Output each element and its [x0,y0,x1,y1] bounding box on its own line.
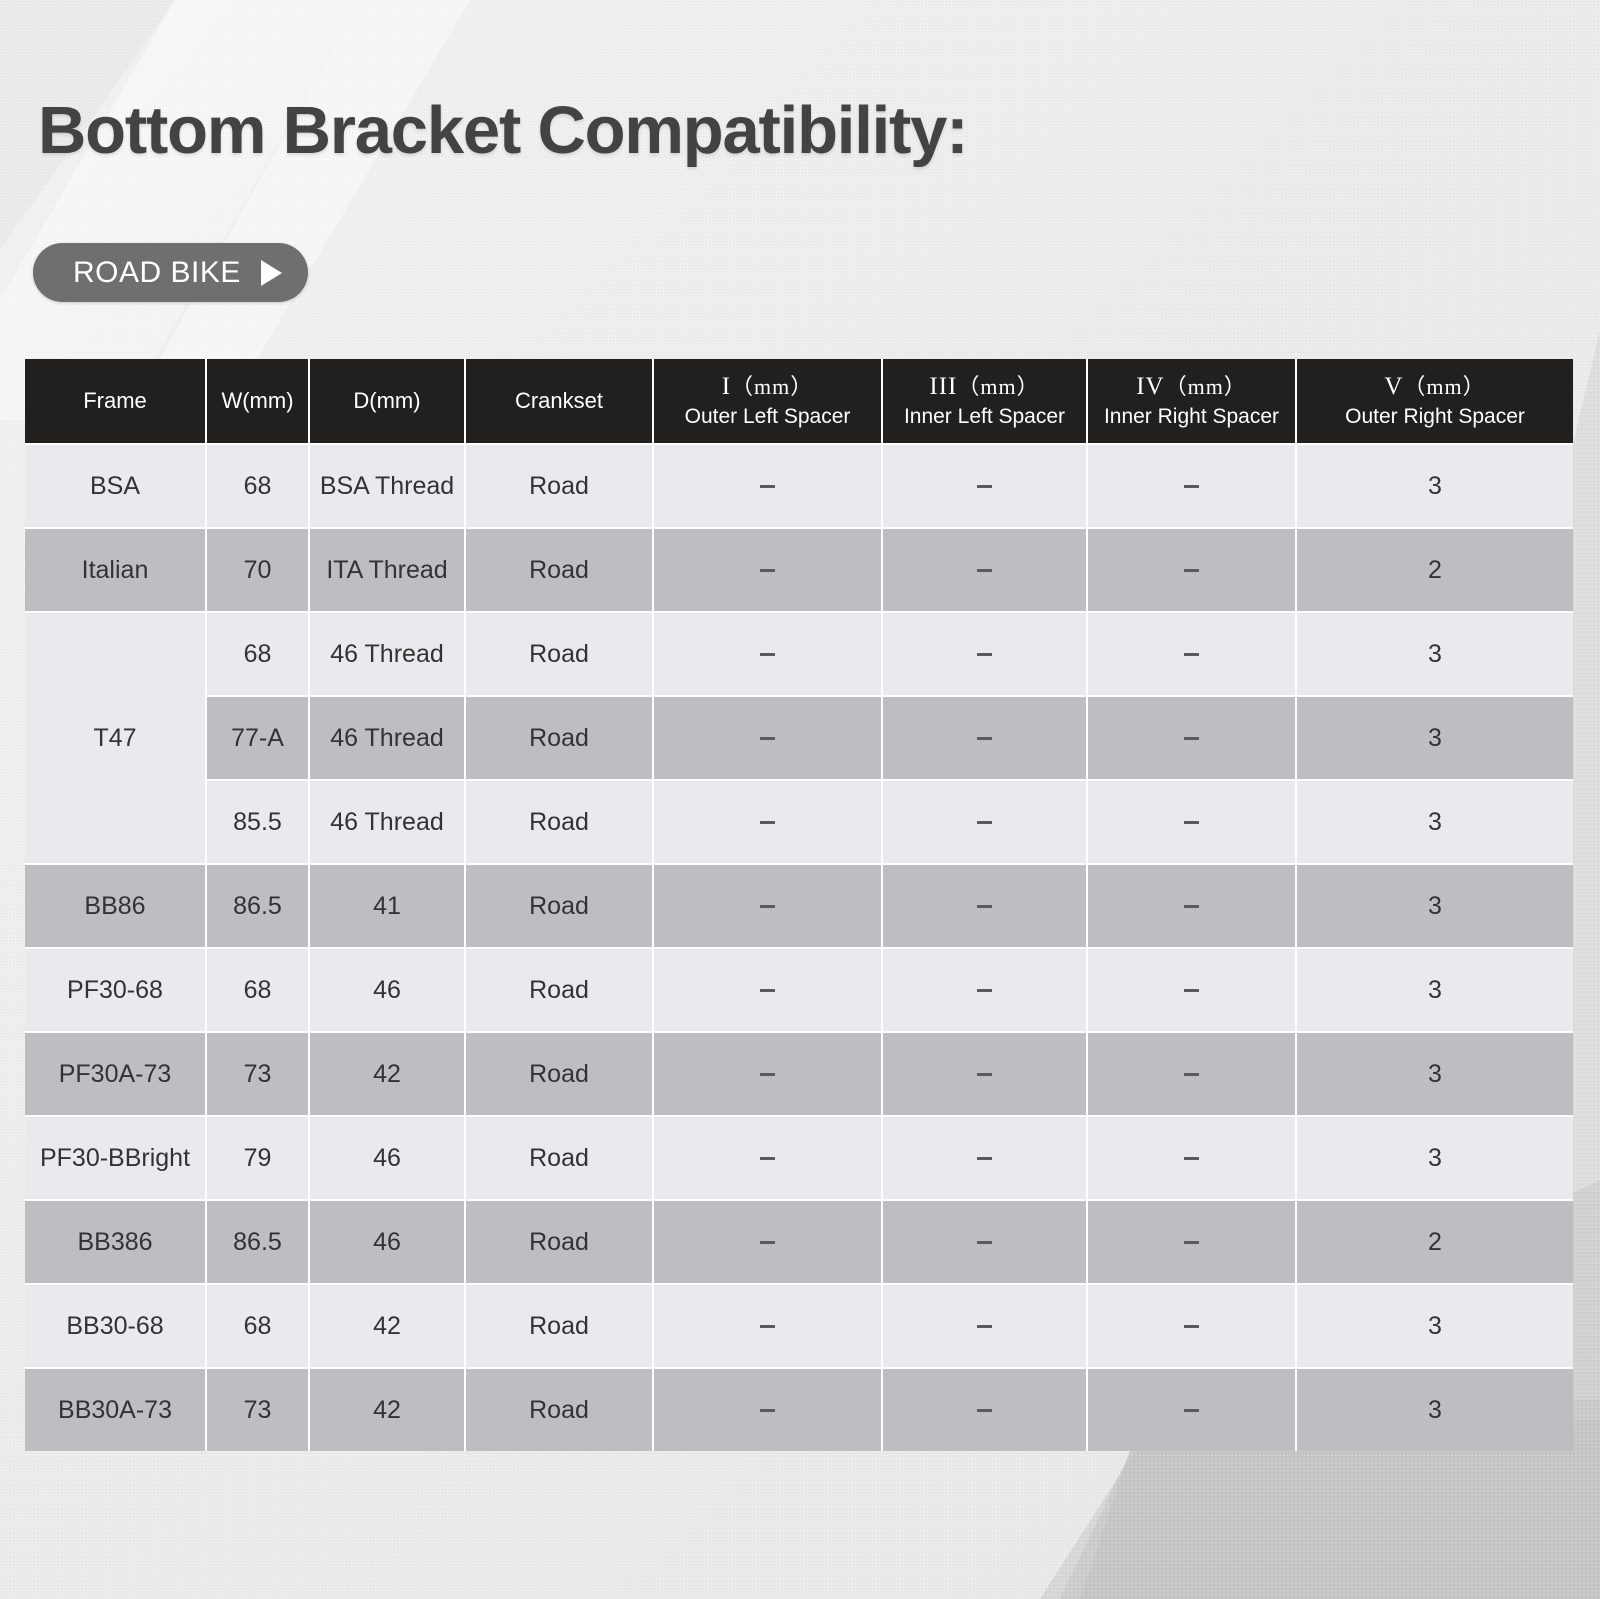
table-row: 77-A46 ThreadRoad3 [25,697,1573,781]
cell-spacer1 [654,445,883,529]
empty-value-dash-icon [1184,1325,1199,1328]
column-header-subtitle: Inner Left Spacer [883,404,1086,431]
compatibility-table: FrameW(mm)D(mm)CranksetI（mm）Outer Left S… [25,359,1573,1451]
empty-value-dash-icon [1184,1073,1199,1076]
cell-d: 46 [310,949,466,1033]
cell-w: 86.5 [207,1201,310,1285]
cell-spacer4 [1088,697,1297,781]
cell-frame: PF30-BBright [25,1117,207,1201]
cell-spacer3 [883,1117,1088,1201]
cell-spacer1 [654,1117,883,1201]
cell-frame: Italian [25,529,207,613]
cell-spacer5: 3 [1297,949,1573,1033]
cell-w: 70 [207,529,310,613]
table-row: T476846 ThreadRoad3 [25,613,1573,697]
cell-spacer1 [654,1033,883,1117]
cell-spacer3 [883,781,1088,865]
cell-spacer3 [883,445,1088,529]
cell-w: 86.5 [207,865,310,949]
cell-d: 42 [310,1369,466,1451]
cell-d: 42 [310,1285,466,1369]
column-header-label: W(mm) [221,388,293,413]
cell-d: 46 [310,1117,466,1201]
table-row: BSA68BSA ThreadRoad3 [25,445,1573,529]
empty-value-dash-icon [1184,737,1199,740]
column-header-unit: （mm） [1165,374,1247,399]
cell-crank: Road [466,1033,654,1117]
column-header-unit: （mm） [1403,374,1485,399]
empty-value-dash-icon [977,1409,992,1412]
cell-spacer3 [883,529,1088,613]
empty-value-dash-icon [760,989,775,992]
cell-d: 46 Thread [310,697,466,781]
empty-value-dash-icon [977,485,992,488]
cell-spacer5: 3 [1297,865,1573,949]
table-row: BB8686.541Road3 [25,865,1573,949]
table-row: BB30-686842Road3 [25,1285,1573,1369]
column-header-label: Frame [83,388,147,413]
cell-spacer3 [883,697,1088,781]
cell-spacer5: 3 [1297,613,1573,697]
cell-w: 68 [207,1285,310,1369]
empty-value-dash-icon [977,905,992,908]
cell-w: 68 [207,445,310,529]
cell-spacer4 [1088,1285,1297,1369]
empty-value-dash-icon [1184,485,1199,488]
empty-value-dash-icon [977,569,992,572]
table-row: BB38686.546Road2 [25,1201,1573,1285]
cell-frame: BB386 [25,1201,207,1285]
cell-spacer3 [883,1201,1088,1285]
column-header-spacer4: IV（mm）Inner Right Spacer [1088,359,1297,445]
cell-spacer3 [883,865,1088,949]
empty-value-dash-icon [977,653,992,656]
cell-spacer3 [883,1285,1088,1369]
cell-spacer5: 3 [1297,697,1573,781]
empty-value-dash-icon [977,1325,992,1328]
cell-w: 73 [207,1033,310,1117]
cell-frame: BB86 [25,865,207,949]
cell-spacer3 [883,1033,1088,1117]
cell-spacer3 [883,949,1088,1033]
cell-spacer1 [654,697,883,781]
cell-d: 46 [310,1201,466,1285]
play-triangle-right-icon [261,260,282,286]
cell-spacer4 [1088,1201,1297,1285]
cell-spacer4 [1088,445,1297,529]
table-header: FrameW(mm)D(mm)CranksetI（mm）Outer Left S… [25,359,1573,445]
cell-d: 46 Thread [310,613,466,697]
cell-spacer5: 3 [1297,1369,1573,1451]
empty-value-dash-icon [760,569,775,572]
cell-crank: Road [466,1369,654,1451]
cell-spacer5: 3 [1297,1285,1573,1369]
cell-spacer1 [654,865,883,949]
cell-spacer4 [1088,949,1297,1033]
column-header-numeral: I（mm） [654,371,881,403]
cell-d: 42 [310,1033,466,1117]
column-header-crank: Crankset [466,359,654,445]
category-badge-road-bike[interactable]: ROAD BIKE [33,243,308,302]
cell-spacer4 [1088,1369,1297,1451]
cell-spacer5: 2 [1297,1201,1573,1285]
empty-value-dash-icon [760,1157,775,1160]
column-header-frame: Frame [25,359,207,445]
cell-spacer3 [883,613,1088,697]
column-header-unit: （mm） [731,374,813,399]
cell-frame: T47 [25,613,207,865]
cell-frame: BSA [25,445,207,529]
empty-value-dash-icon [1184,989,1199,992]
cell-spacer5: 2 [1297,529,1573,613]
empty-value-dash-icon [1184,1241,1199,1244]
column-header-spacer3: III（mm）Inner Left Spacer [883,359,1088,445]
cell-crank: Road [466,697,654,781]
cell-spacer1 [654,1369,883,1451]
table-row: BB30A-737342Road3 [25,1369,1573,1451]
empty-value-dash-icon [760,485,775,488]
empty-value-dash-icon [977,1157,992,1160]
cell-crank: Road [466,1117,654,1201]
column-header-numeral: V（mm） [1297,371,1573,403]
cell-crank: Road [466,1285,654,1369]
cell-spacer4 [1088,781,1297,865]
cell-spacer4 [1088,613,1297,697]
cell-d: ITA Thread [310,529,466,613]
cell-spacer1 [654,949,883,1033]
column-header-label: Crankset [515,388,603,413]
cell-crank: Road [466,1201,654,1285]
cell-spacer1 [654,1285,883,1369]
empty-value-dash-icon [1184,905,1199,908]
cell-w: 68 [207,613,310,697]
compatibility-table-container: FrameW(mm)D(mm)CranksetI（mm）Outer Left S… [25,359,1573,1451]
empty-value-dash-icon [1184,1157,1199,1160]
cell-frame: BB30-68 [25,1285,207,1369]
cell-frame: PF30A-73 [25,1033,207,1117]
empty-value-dash-icon [1184,821,1199,824]
table-body: BSA68BSA ThreadRoad3Italian70ITA ThreadR… [25,445,1573,1451]
cell-crank: Road [466,949,654,1033]
cell-spacer5: 3 [1297,1117,1573,1201]
column-header-subtitle: Outer Left Spacer [654,404,881,431]
empty-value-dash-icon [760,1241,775,1244]
column-header-subtitle: Outer Right Spacer [1297,404,1573,431]
cell-w: 79 [207,1117,310,1201]
column-header-w: W(mm) [207,359,310,445]
cell-crank: Road [466,529,654,613]
empty-value-dash-icon [760,905,775,908]
cell-spacer3 [883,1369,1088,1451]
cell-spacer4 [1088,1033,1297,1117]
cell-spacer1 [654,1201,883,1285]
cell-frame: PF30-68 [25,949,207,1033]
column-header-unit: （mm） [957,374,1039,399]
empty-value-dash-icon [760,1409,775,1412]
empty-value-dash-icon [977,737,992,740]
cell-w: 85.5 [207,781,310,865]
empty-value-dash-icon [760,653,775,656]
table-row: 85.546 ThreadRoad3 [25,781,1573,865]
column-header-label: D(mm) [353,388,420,413]
cell-crank: Road [466,445,654,529]
cell-crank: Road [466,781,654,865]
empty-value-dash-icon [977,1241,992,1244]
column-header-numeral: IV（mm） [1088,371,1295,403]
category-badge-label: ROAD BIKE [73,256,241,290]
empty-value-dash-icon [760,1073,775,1076]
cell-spacer1 [654,781,883,865]
column-header-subtitle: Inner Right Spacer [1088,404,1295,431]
empty-value-dash-icon [760,821,775,824]
empty-value-dash-icon [1184,653,1199,656]
column-header-spacer5: V（mm）Outer Right Spacer [1297,359,1573,445]
cell-w: 73 [207,1369,310,1451]
cell-frame: BB30A-73 [25,1369,207,1451]
cell-spacer5: 3 [1297,781,1573,865]
table-row: PF30-BBright7946Road3 [25,1117,1573,1201]
cell-spacer4 [1088,1117,1297,1201]
cell-crank: Road [466,613,654,697]
cell-spacer1 [654,613,883,697]
empty-value-dash-icon [977,821,992,824]
column-header-numeral: III（mm） [883,371,1086,403]
empty-value-dash-icon [977,989,992,992]
cell-spacer4 [1088,529,1297,613]
table-row: PF30-686846Road3 [25,949,1573,1033]
page-title: Bottom Bracket Compatibility: [38,92,967,169]
table-row: Italian70ITA ThreadRoad2 [25,529,1573,613]
empty-value-dash-icon [760,737,775,740]
table-row: PF30A-737342Road3 [25,1033,1573,1117]
cell-spacer4 [1088,865,1297,949]
empty-value-dash-icon [1184,569,1199,572]
column-header-spacer1: I（mm）Outer Left Spacer [654,359,883,445]
column-header-d: D(mm) [310,359,466,445]
cell-crank: Road [466,865,654,949]
cell-w: 68 [207,949,310,1033]
cell-spacer5: 3 [1297,445,1573,529]
cell-d: BSA Thread [310,445,466,529]
cell-spacer1 [654,529,883,613]
cell-d: 46 Thread [310,781,466,865]
cell-w: 77-A [207,697,310,781]
cell-spacer5: 3 [1297,1033,1573,1117]
table-header-row: FrameW(mm)D(mm)CranksetI（mm）Outer Left S… [25,359,1573,445]
empty-value-dash-icon [977,1073,992,1076]
empty-value-dash-icon [1184,1409,1199,1412]
empty-value-dash-icon [760,1325,775,1328]
cell-d: 41 [310,865,466,949]
